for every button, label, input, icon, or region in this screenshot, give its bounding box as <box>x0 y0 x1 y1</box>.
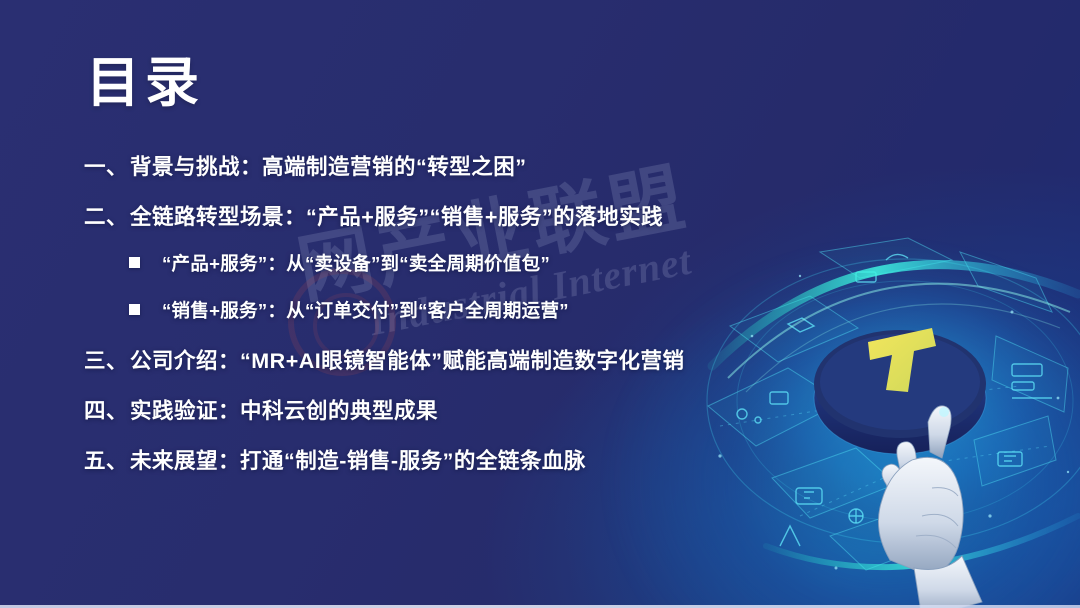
toc-item-label: 公司介绍：“MR+AI眼镜智能体”赋能高端制造数字化营销 <box>130 344 685 375</box>
toc-item-label: 实践验证：中科云创的典型成果 <box>130 394 438 425</box>
toc-item-label: 未来展望：打通“制造-销售-服务”的全链条血脉 <box>130 444 586 475</box>
toc-subitem-label: “销售+服务”：从“订单交付”到“客户全周期运营” <box>162 297 569 323</box>
square-bullet-icon <box>129 257 140 268</box>
toc-item-index: 五、 <box>84 444 128 475</box>
toc-item-label: 背景与挑战：高端制造营销的“转型之困” <box>130 150 527 181</box>
toc-item-3[interactable]: 三、 公司介绍：“MR+AI眼镜智能体”赋能高端制造数字化营销 <box>84 344 784 394</box>
toc-item-2[interactable]: 二、 全链路转型场景：“产品+服务”“销售+服务”的落地实践 <box>84 200 784 250</box>
toc-subitem-1[interactable]: “产品+服务”：从“卖设备”到“卖全周期价值包” <box>84 250 784 297</box>
toc-item-index: 一、 <box>84 150 128 181</box>
toc-item-index: 二、 <box>84 200 128 231</box>
toc-item-4[interactable]: 四、 实践验证：中科云创的典型成果 <box>84 394 784 444</box>
toc-subitem-2[interactable]: “销售+服务”：从“订单交付”到“客户全周期运营” <box>84 297 784 344</box>
toc-item-index: 三、 <box>84 344 128 375</box>
table-of-contents: 一、 背景与挑战：高端制造营销的“转型之困” 二、 全链路转型场景：“产品+服务… <box>84 150 784 494</box>
square-bullet-icon <box>129 304 140 315</box>
toc-item-1[interactable]: 一、 背景与挑战：高端制造营销的“转型之困” <box>84 150 784 200</box>
toc-subitem-label: “产品+服务”：从“卖设备”到“卖全周期价值包” <box>162 250 550 276</box>
toc-item-5[interactable]: 五、 未来展望：打通“制造-销售-服务”的全链条血脉 <box>84 444 784 494</box>
toc-item-index: 四、 <box>84 394 128 425</box>
presentation-slide: 网产业联盟 Industrial Internet <box>0 0 1080 608</box>
toc-item-label: 全链路转型场景：“产品+服务”“销售+服务”的落地实践 <box>130 200 663 231</box>
page-title: 目录 <box>86 56 204 110</box>
